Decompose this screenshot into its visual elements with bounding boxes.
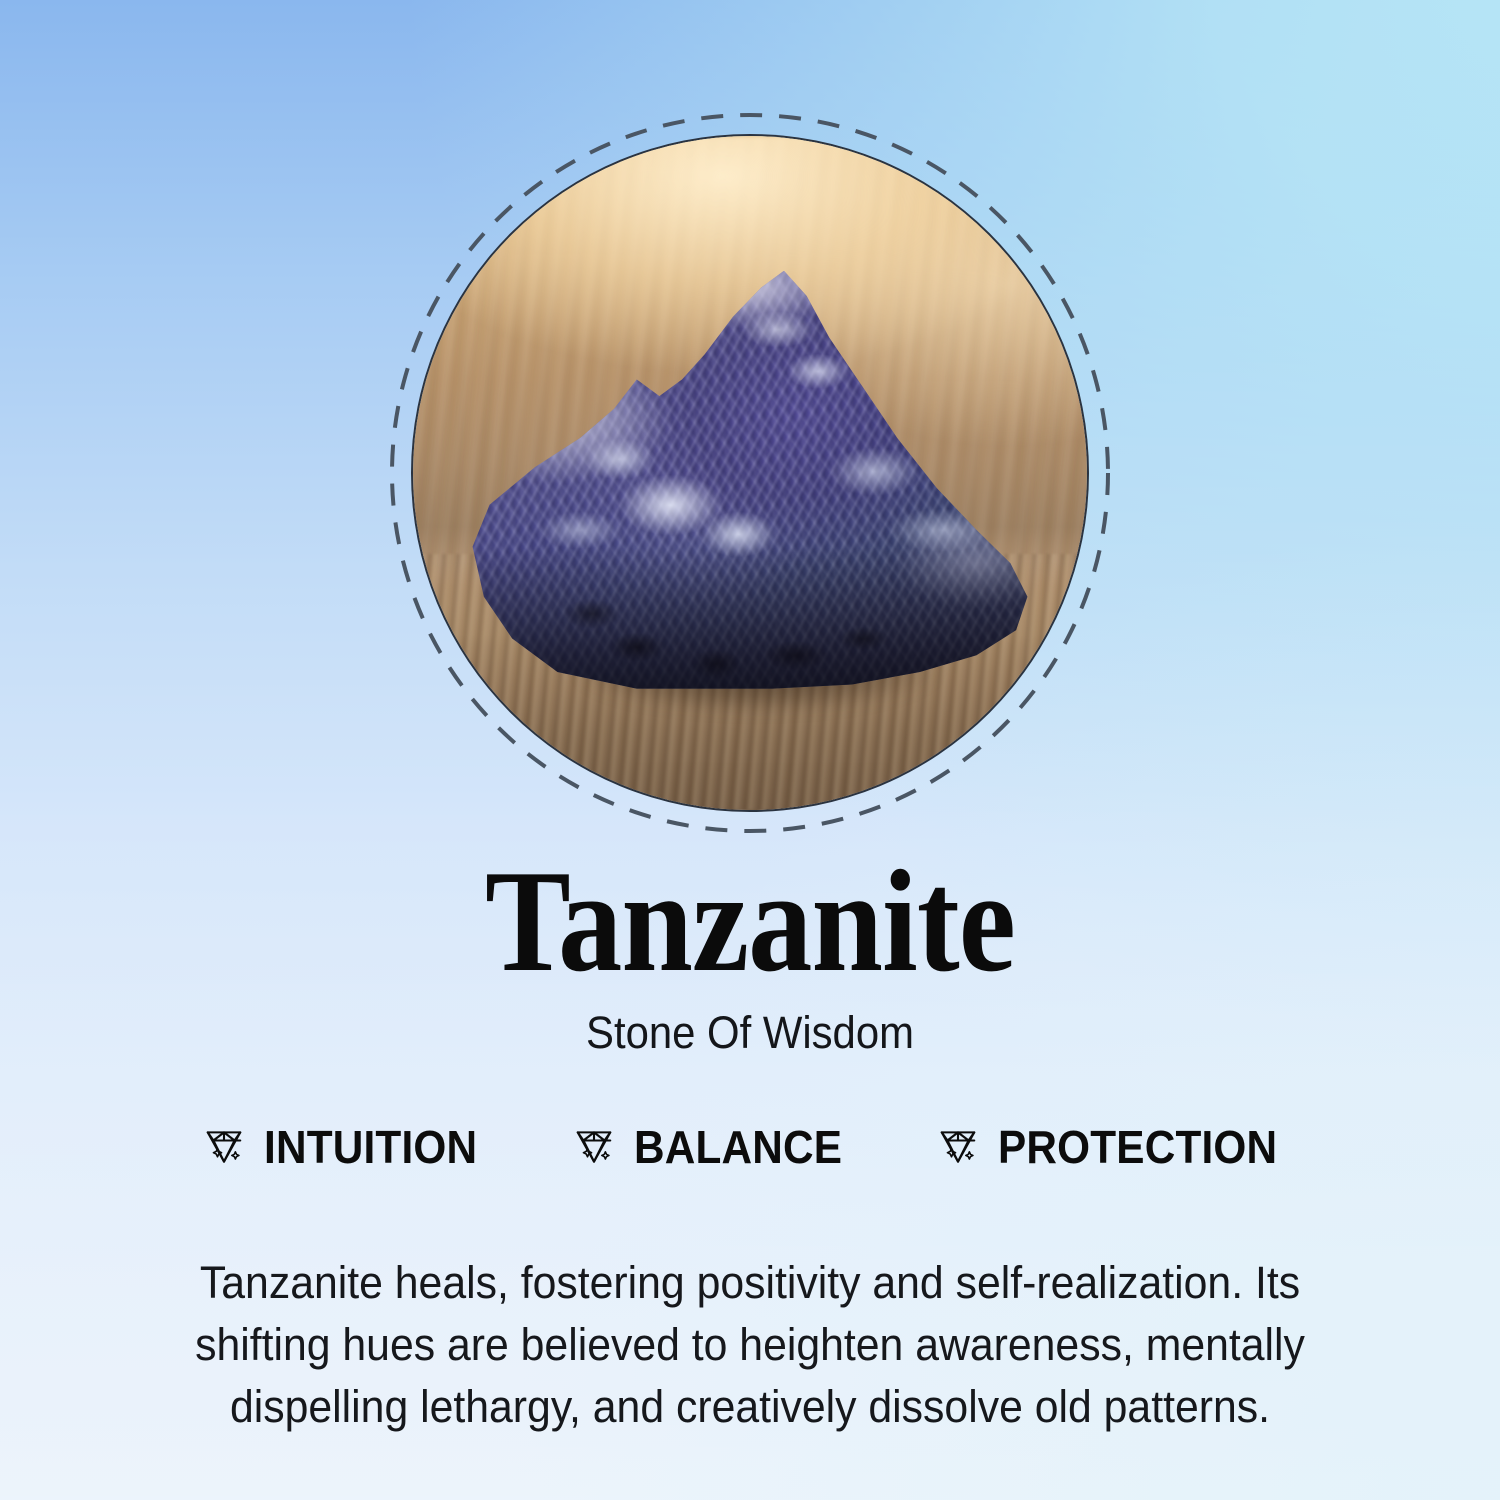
gem-icon <box>568 1121 620 1173</box>
description-text: Tanzanite heals, fostering positivity an… <box>128 1252 1373 1438</box>
keyword-list: INTUITION BALANCE <box>0 1120 1500 1174</box>
gem-icon <box>198 1121 250 1173</box>
keyword-item-protection: PROTECTION <box>932 1120 1302 1174</box>
keyword-item-balance: BALANCE <box>568 1120 860 1174</box>
page-title: Tanzanite <box>90 848 1410 994</box>
subtitle: Stone Of Wisdom <box>53 1008 1448 1058</box>
keyword-label: PROTECTION <box>998 1120 1277 1174</box>
keyword-label: BALANCE <box>634 1120 842 1174</box>
keyword-label: INTUITION <box>264 1120 477 1174</box>
card-content: Tanzanite Stone Of Wisdom INT <box>0 848 1500 1438</box>
keyword-item-intuition: INTUITION <box>198 1120 496 1174</box>
crystal-dark-crust <box>467 271 1033 689</box>
gemstone-info-card: Tanzanite Stone Of Wisdom INT <box>0 0 1500 1500</box>
hero-medallion <box>390 113 1110 833</box>
gem-icon <box>932 1121 984 1173</box>
tanzanite-crystal <box>467 271 1033 689</box>
tanzanite-crystal-photo <box>413 136 1087 810</box>
